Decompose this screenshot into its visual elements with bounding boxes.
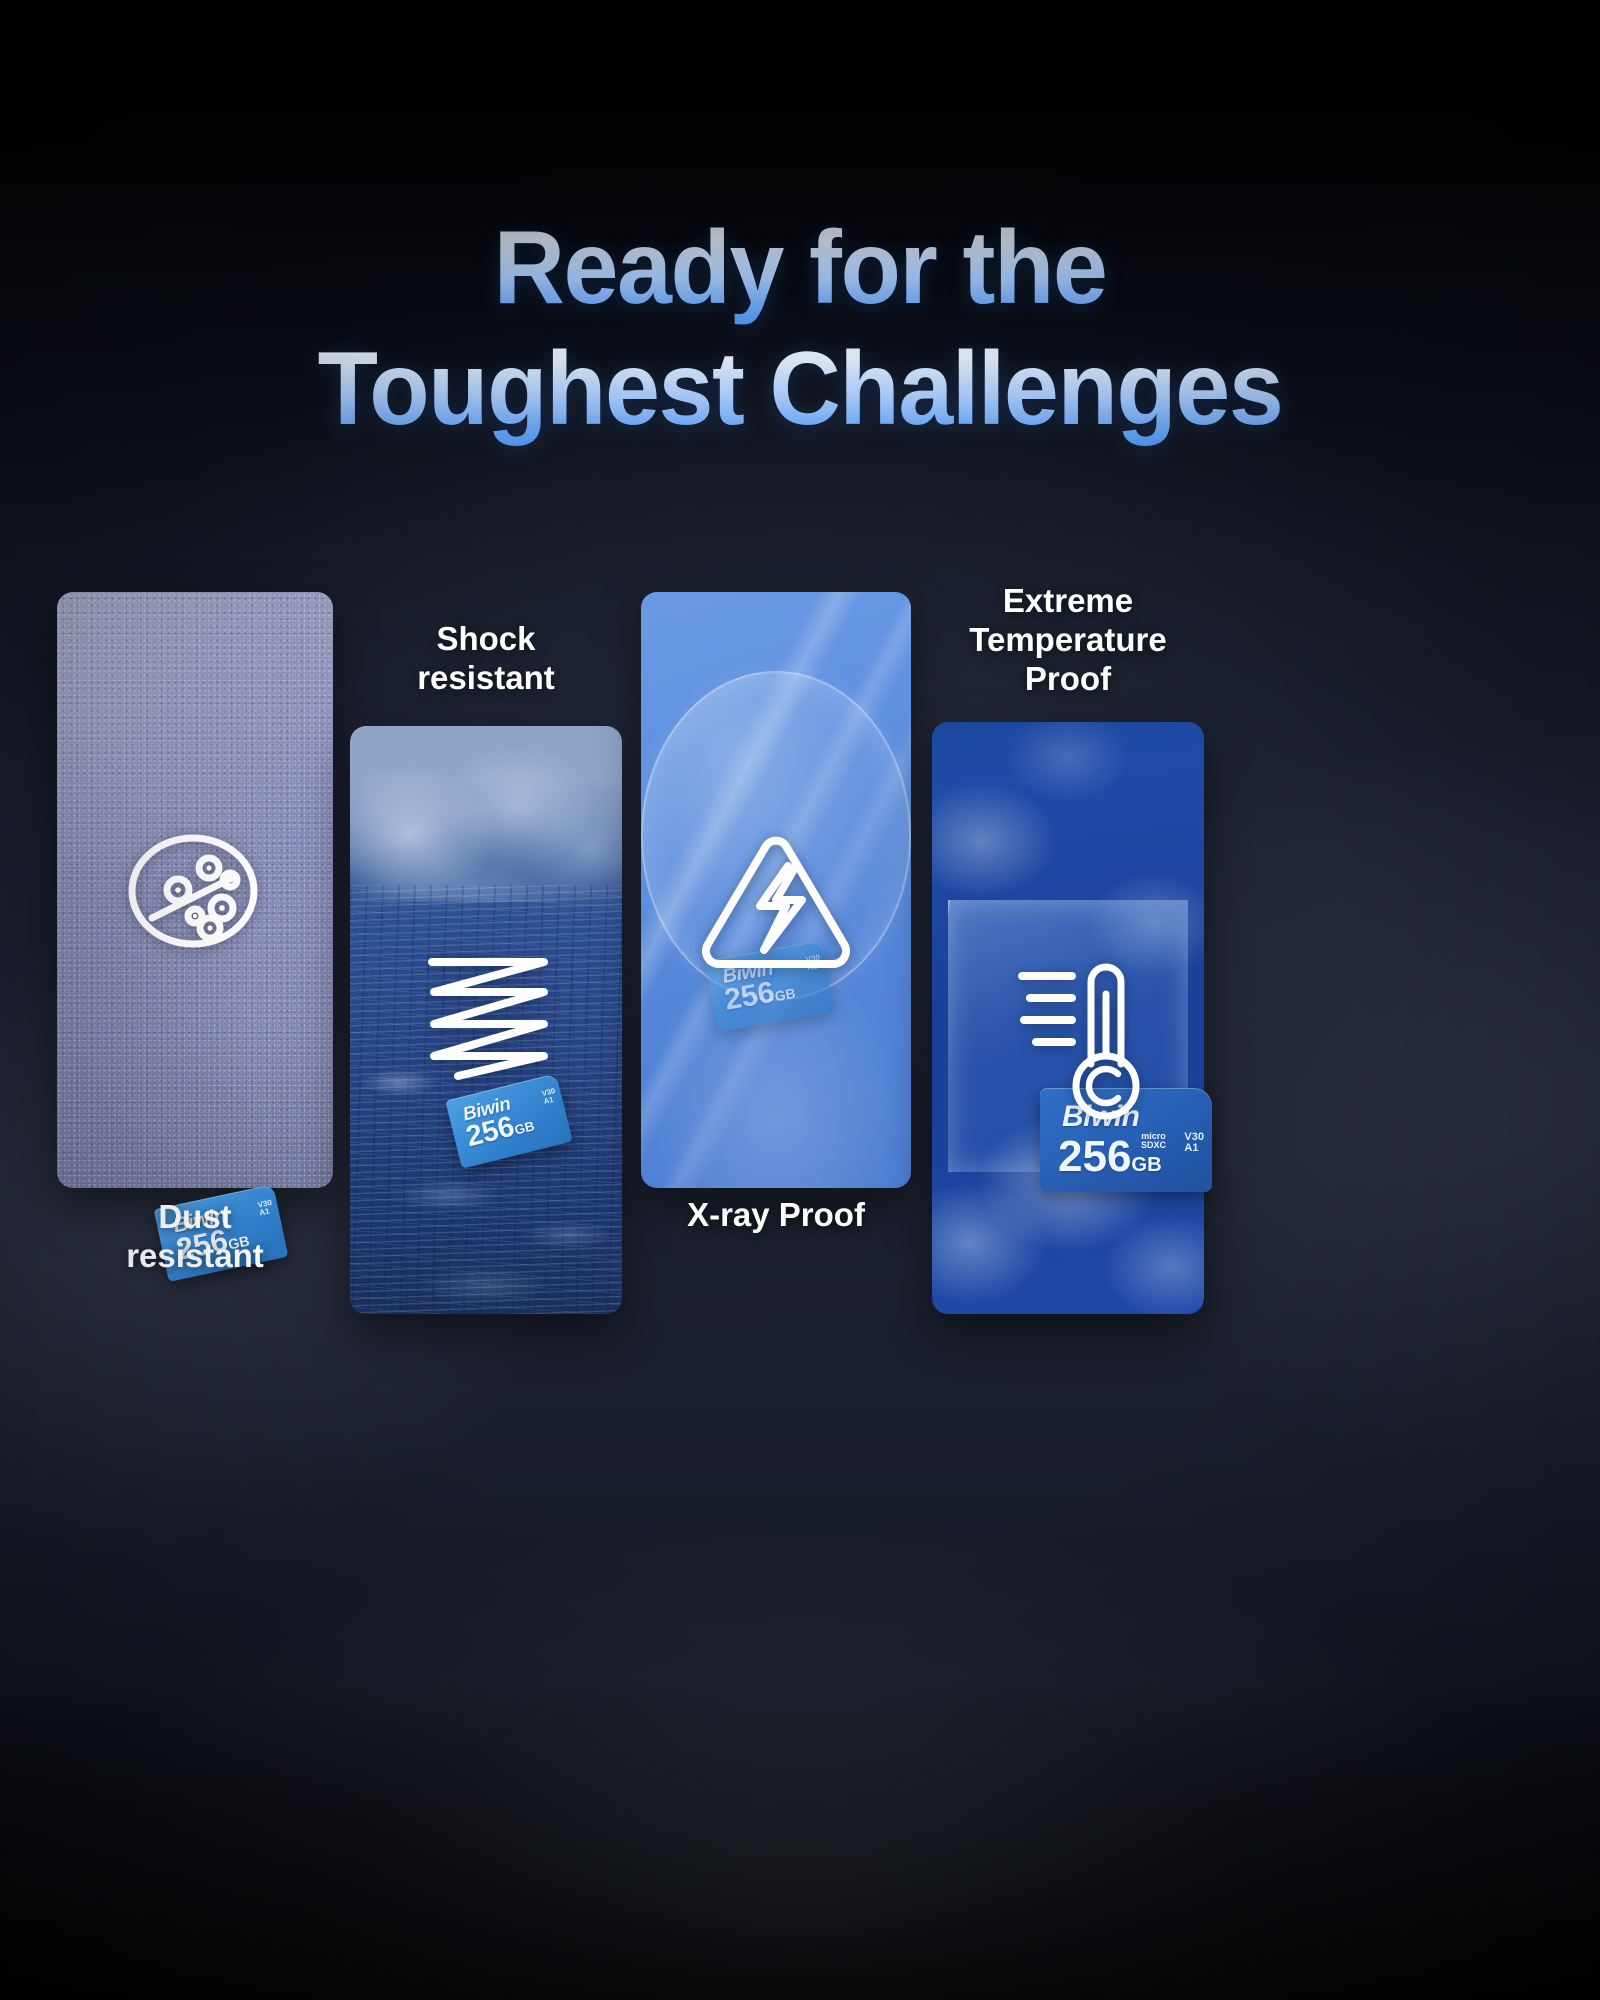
shock-zigzag-icon	[418, 950, 558, 1080]
product-specs: V30 A1	[541, 1087, 558, 1105]
product-spec-microsdxc: micro SDXC	[1141, 1132, 1166, 1151]
promo-stage: Ready for the Toughest Challenges Biwin …	[0, 0, 1600, 2000]
xray-warning-triangle-icon	[698, 832, 854, 972]
product-specs: V30 A1	[1184, 1132, 1204, 1154]
feature-label-xray: X-ray Proof	[641, 1196, 911, 1235]
dust-resistant-icon	[126, 824, 260, 958]
feature-label-shock: Shock resistant	[350, 620, 622, 698]
feature-label-dust: Dust resistant	[57, 1198, 333, 1276]
feature-label-temperature: Extreme Temperature Proof	[932, 582, 1204, 699]
headline-line-2: Toughest Challenges	[40, 329, 1560, 450]
shock-sky-clouds	[350, 726, 622, 902]
page-title: Ready for the Toughest Challenges	[40, 208, 1560, 449]
headline-line-1: Ready for the	[40, 208, 1560, 329]
thermometer-celsius-icon	[1016, 952, 1148, 1124]
